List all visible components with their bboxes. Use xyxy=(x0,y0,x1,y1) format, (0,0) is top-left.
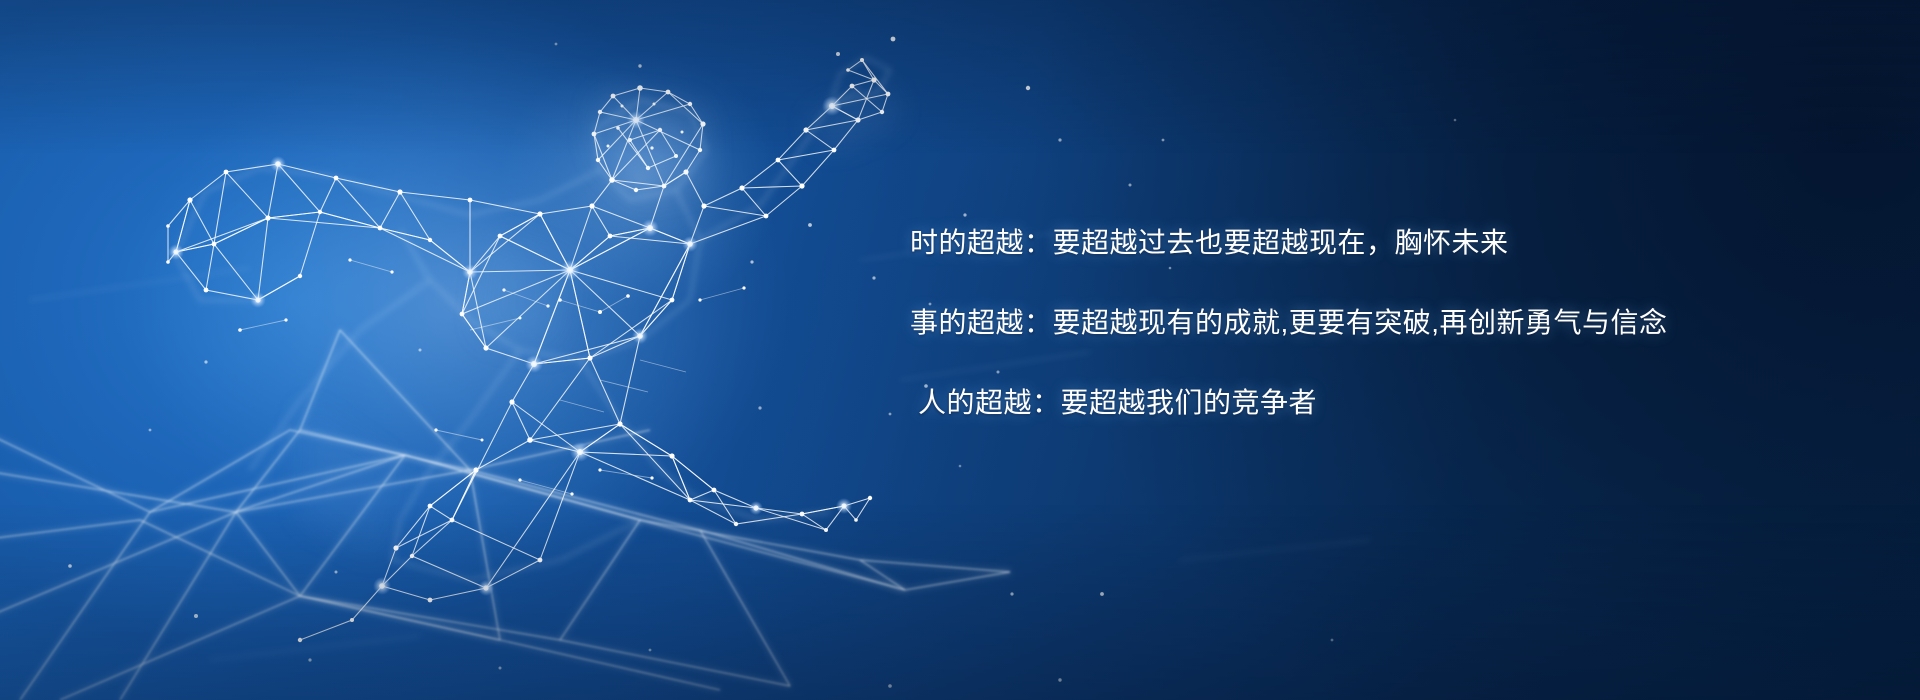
hero-banner: 时的超越：要超越过去也要超越现在，胸怀未来 事的超越：要超越现有的成就,更要有突… xyxy=(0,0,1920,700)
tagline-time: 时的超越：要超越过去也要超越现在，胸怀未来 xyxy=(910,228,1770,258)
tagline-people: 人的超越：要超越我们的竞争者 xyxy=(918,388,1770,418)
tagline-matter: 事的超越：要超越现有的成就,更要有突破,再创新勇气与信念 xyxy=(910,308,1770,338)
tagline-block: 时的超越：要超越过去也要超越现在，胸怀未来 事的超越：要超越现有的成就,更要有突… xyxy=(910,228,1770,418)
